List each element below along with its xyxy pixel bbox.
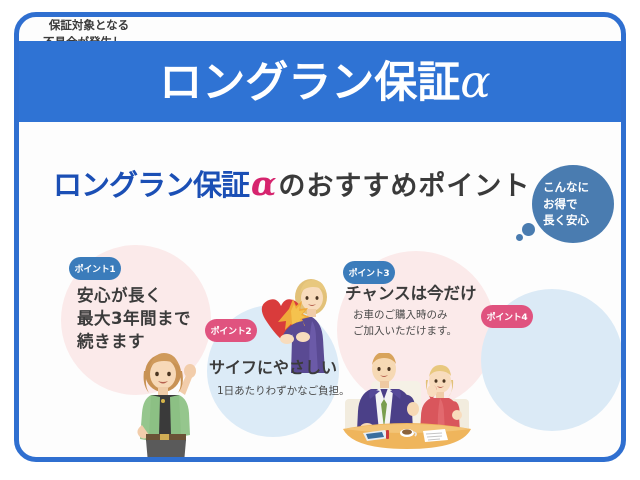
content-frame: ロングラン保証α ロングラン保証αのおすすめポイント こんなに お得で 長く安心 (14, 12, 626, 462)
point-2-badge: ポイント2 (205, 319, 257, 342)
point-2-line-1: サイフにやさしい (209, 357, 337, 379)
bubble-line-3: 長く安心 (543, 212, 614, 229)
point-3-badge-label: ポイント3 (349, 266, 390, 279)
page-title: ロングラン保証α (159, 59, 490, 105)
point-3-heading: チャンスは今だけ (345, 283, 477, 306)
couple-at-table-icon (337, 353, 477, 451)
speech-bubble-tail-small (516, 234, 523, 241)
point-3-sub-line-2: ご加入いただけます。 (353, 323, 457, 339)
point-2-heading: サイフにやさしい (209, 357, 337, 379)
point-4-line-1: 保証対象となる (19, 17, 159, 34)
subtitle-alpha: α (249, 164, 278, 203)
header-title-alpha: α (460, 55, 490, 108)
subtitle-brand: ロングラン保証 (53, 168, 249, 202)
advertisement-canvas: ロングラン保証α ロングラン保証αのおすすめポイント こんなに お得で 長く安心 (0, 0, 640, 480)
header-title-text: ロングラン保証 (159, 58, 460, 108)
point-3-line-1: チャンスは今だけ (345, 283, 477, 306)
point-2-badge-label: ポイント2 (211, 324, 252, 337)
point-1-heading: 安心が長く 最大3年間まで 続きます (77, 285, 191, 353)
point-1-line-1: 安心が長く (77, 285, 191, 308)
point-2-subtext: 1日あたりわずかなご負担。 (217, 383, 350, 399)
point-4-badge: ポイント4 (481, 305, 533, 328)
header-band: ロングラン保証α (14, 41, 626, 122)
point-4-badge-label: ポイント4 (487, 310, 528, 323)
woman-green-cardigan-icon (127, 347, 207, 462)
speech-bubble: こんなに お得で 長く安心 (532, 165, 614, 243)
point-1-line-3: 続きます (77, 331, 191, 354)
bubble-line-1: こんなに (543, 179, 614, 196)
bubble-line-2: お得で (543, 196, 614, 213)
point-3-badge: ポイント3 (343, 261, 395, 284)
point-1-badge-label: ポイント1 (75, 262, 116, 275)
subtitle: ロングラン保証αのおすすめポイント (53, 167, 530, 200)
point-3-sub-line-1: お車のご購入時のみ (353, 307, 457, 323)
subtitle-tail: のおすすめポイント (278, 171, 530, 202)
point-2-sub-line-1: 1日あたりわずかなご負担。 (217, 383, 350, 399)
point-1-line-2: 最大3年間まで (77, 308, 191, 331)
speech-bubble-tail-large (522, 223, 535, 236)
point-3-subtext: お車のご購入時のみ ご加入いただけます。 (353, 307, 457, 340)
point-1-badge: ポイント1 (69, 257, 121, 280)
